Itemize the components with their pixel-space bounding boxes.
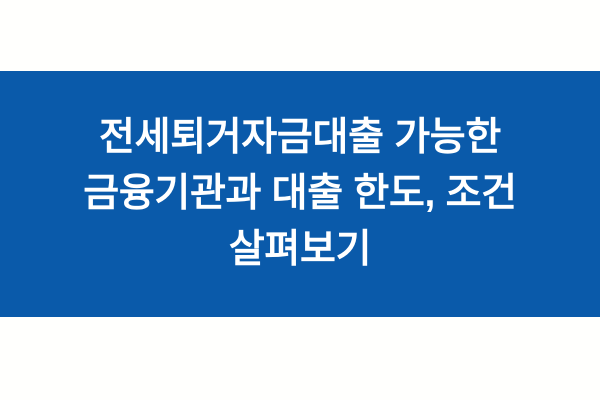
blue-banner-band: 전세퇴거자금대출 가능한 금융기관과 대출 한도, 조건 살펴보기 <box>0 71 600 317</box>
top-margin-area <box>0 0 600 71</box>
banner-canvas: 전세퇴거자금대출 가능한 금융기관과 대출 한도, 조건 살펴보기 <box>0 0 600 400</box>
banner-title-line-1: 전세퇴거자금대출 가능한 <box>0 110 600 166</box>
banner-title-line-2: 금융기관과 대출 한도, 조건 <box>0 166 600 222</box>
banner-title-line-3: 살펴보기 <box>0 222 600 278</box>
bottom-margin-area <box>0 317 600 400</box>
banner-title: 전세퇴거자금대출 가능한 금융기관과 대출 한도, 조건 살펴보기 <box>0 110 600 278</box>
